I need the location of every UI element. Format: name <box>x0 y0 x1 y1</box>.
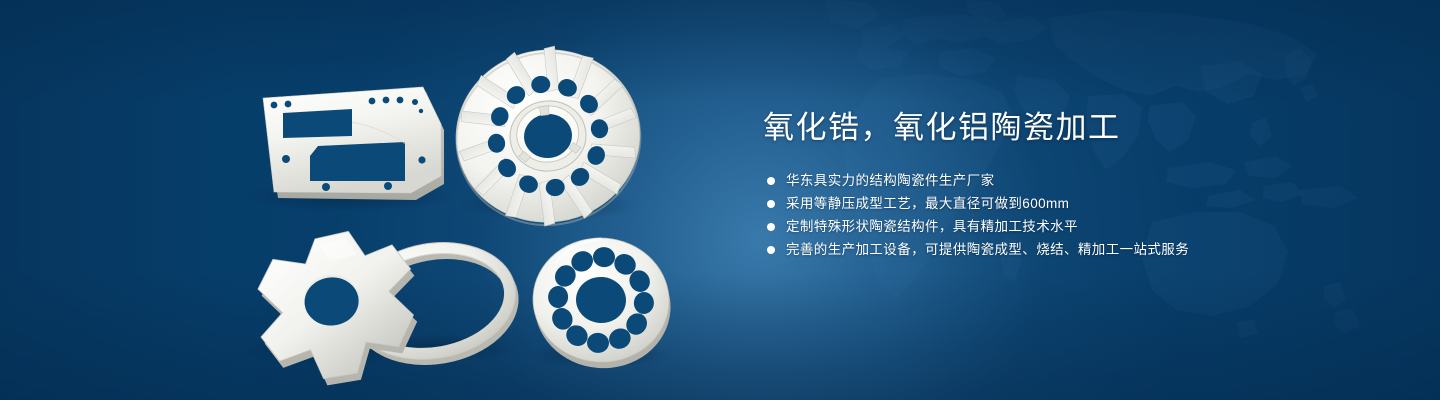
ceramic-cross-part-shape <box>251 225 425 392</box>
list-item: 定制特殊形状陶瓷结构件，具有精加工技术水平 <box>763 216 1403 238</box>
ceramic-products-image <box>0 0 760 400</box>
feature-list: 华东具实力的结构陶瓷件生产厂家 采用等静压成型工艺，最大直径可做到600mm 定… <box>763 170 1403 261</box>
bullet-dot-icon <box>767 200 775 208</box>
bullet-dot-icon <box>767 246 775 254</box>
page-title: 氧化锆，氧化铝陶瓷加工 <box>763 108 1403 148</box>
list-item: 完善的生产加工设备，可提供陶瓷成型、烧结、精加工一站式服务 <box>763 239 1403 261</box>
banner-copy-block: 氧化锆，氧化铝陶瓷加工 华东具实力的结构陶瓷件生产厂家 采用等静压成型工艺，最大… <box>763 108 1403 262</box>
ceramic-processing-banner: 氧化锆，氧化铝陶瓷加工 华东具实力的结构陶瓷件生产厂家 采用等静压成型工艺，最大… <box>0 0 1440 400</box>
ceramic-mounting-plate-shape <box>263 87 444 200</box>
bullet-dot-icon <box>767 223 775 231</box>
feature-text: 华东具实力的结构陶瓷件生产厂家 <box>786 170 995 192</box>
list-item: 采用等静压成型工艺，最大直径可做到600mm <box>763 193 1403 215</box>
bullet-dot-icon <box>767 177 775 185</box>
feature-text: 完善的生产加工设备，可提供陶瓷成型、烧结、精加工一站式服务 <box>786 239 1189 261</box>
list-item: 华东具实力的结构陶瓷件生产厂家 <box>763 170 1403 192</box>
feature-text: 定制特殊形状陶瓷结构件，具有精加工技术水平 <box>786 216 1078 238</box>
feature-text: 采用等静压成型工艺，最大直径可做到600mm <box>786 193 1069 215</box>
